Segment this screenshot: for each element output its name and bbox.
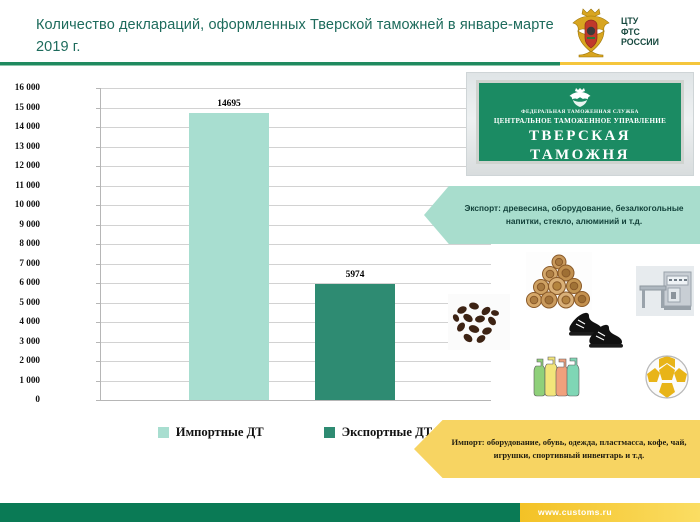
y-axis-tick-mark bbox=[96, 205, 100, 206]
page-title: Количество деклараций, оформленных Тверс… bbox=[36, 14, 556, 58]
y-axis-tick-mark bbox=[96, 303, 100, 304]
chart-gridline bbox=[101, 127, 491, 128]
y-axis-tick-label: 11 000 bbox=[0, 180, 40, 190]
y-axis-tick-label: 4 000 bbox=[0, 316, 40, 326]
bar-value-label: 5974 bbox=[315, 270, 395, 280]
y-axis-tick-label: 5 000 bbox=[0, 297, 40, 307]
chart-gridline bbox=[101, 186, 491, 187]
chart-gridline bbox=[101, 244, 491, 245]
ftc-crest-icon bbox=[567, 87, 593, 107]
slide-root: Количество деклараций, оформленных Тверс… bbox=[0, 0, 700, 525]
y-axis-tick-mark bbox=[96, 361, 100, 362]
y-axis-tick-mark bbox=[96, 108, 100, 109]
chart-bar[interactable] bbox=[315, 284, 395, 400]
y-axis-tick-label: 7 000 bbox=[0, 258, 40, 268]
chart-gridline bbox=[101, 381, 491, 382]
y-axis-tick-label: 9 000 bbox=[0, 219, 40, 229]
emblem-line-2: ФТС bbox=[621, 27, 659, 38]
chart-bar[interactable] bbox=[189, 113, 269, 400]
chart-gridline bbox=[101, 303, 491, 304]
chart-gridline bbox=[101, 283, 491, 284]
y-axis-tick-label: 16 000 bbox=[0, 82, 40, 92]
chart-gridline bbox=[101, 342, 491, 343]
legend-item[interactable]: Импортные ДТ bbox=[158, 425, 264, 440]
bar-value-label: 14695 bbox=[189, 99, 269, 109]
y-axis-tick-label: 0 bbox=[0, 394, 40, 404]
y-axis-tick-label: 13 000 bbox=[0, 141, 40, 151]
customs-office-signboard-photo: ФЕДЕРАЛЬНАЯ ТАМОЖЕННАЯ СЛУЖБА ЦЕНТРАЛЬНО… bbox=[466, 72, 694, 176]
y-axis-tick-mark bbox=[96, 400, 100, 401]
legend-item[interactable]: Экспортные ДТ bbox=[324, 425, 433, 440]
chart-gridline bbox=[101, 147, 491, 148]
footer-bar-green bbox=[0, 503, 520, 522]
declarations-bar-chart: 16 00015 00014 00013 00012 00011 00010 0… bbox=[28, 80, 508, 450]
chart-gridline bbox=[101, 166, 491, 167]
y-axis-tick-mark bbox=[96, 283, 100, 284]
emblem-label: ЦТУ ФТС РОССИИ bbox=[621, 16, 659, 48]
y-axis-tick-mark bbox=[96, 186, 100, 187]
organization-logo: ЦТУ ФТС РОССИИ bbox=[566, 4, 694, 60]
header-divider-gold bbox=[560, 62, 700, 65]
coffee-beans-icon bbox=[448, 294, 510, 350]
y-axis-tick-label: 10 000 bbox=[0, 199, 40, 209]
signboard-line-3a: ТВЕРСКАЯ bbox=[529, 128, 631, 144]
y-axis-tick-mark bbox=[96, 88, 100, 89]
import-callout-text: Импорт: оборудование, обувь, одежда, пла… bbox=[448, 436, 690, 463]
legend-color-swatch bbox=[158, 427, 169, 438]
y-axis-tick-mark bbox=[96, 225, 100, 226]
y-axis-tick-mark bbox=[96, 322, 100, 323]
signboard-line-1: ФЕДЕРАЛЬНАЯ ТАМОЖЕННАЯ СЛУЖБА bbox=[521, 109, 639, 115]
import-goods-callout: Импорт: оборудование, обувь, одежда, пла… bbox=[414, 420, 700, 478]
y-axis-tick-label: 15 000 bbox=[0, 102, 40, 112]
y-axis-tick-mark bbox=[96, 147, 100, 148]
legend-color-swatch bbox=[324, 427, 335, 438]
y-axis-tick-label: 1 000 bbox=[0, 375, 40, 385]
plastic-bottles-icon bbox=[532, 354, 584, 402]
emblem-line-1: ЦТУ bbox=[621, 16, 659, 27]
y-axis-tick-mark bbox=[96, 127, 100, 128]
y-axis-tick-label: 3 000 bbox=[0, 336, 40, 346]
timber-logs-icon bbox=[526, 252, 592, 310]
y-axis-tick-label: 14 000 bbox=[0, 121, 40, 131]
chart-plot-area bbox=[100, 88, 491, 401]
export-goods-callout: Экспорт: древесина, оборудование, безалк… bbox=[424, 186, 700, 244]
russian-double-headed-eagle-emblem bbox=[566, 5, 616, 59]
y-axis-tick-label: 8 000 bbox=[0, 238, 40, 248]
y-axis-tick-mark bbox=[96, 264, 100, 265]
header-divider-green-light bbox=[0, 65, 560, 66]
export-callout-text: Экспорт: древесина, оборудование, безалк… bbox=[458, 202, 690, 228]
industrial-machine-icon bbox=[636, 266, 694, 316]
chart-gridline bbox=[101, 108, 491, 109]
y-axis-tick-mark bbox=[96, 166, 100, 167]
chart-gridline bbox=[101, 264, 491, 265]
soccer-ball-icon bbox=[644, 354, 690, 400]
signboard-line-2: ЦЕНТРАЛЬНОЕ ТАМОЖЕННОЕ УПРАВЛЕНИЕ bbox=[494, 117, 666, 125]
signboard-plate: ФЕДЕРАЛЬНАЯ ТАМОЖЕННАЯ СЛУЖБА ЦЕНТРАЛЬНО… bbox=[476, 80, 684, 164]
footer-website-url[interactable]: www.customs.ru bbox=[538, 507, 612, 517]
legend-label: Экспортные ДТ bbox=[342, 425, 433, 440]
chart-gridline bbox=[101, 322, 491, 323]
product-illustrations bbox=[448, 252, 700, 416]
y-axis-tick-mark bbox=[96, 381, 100, 382]
y-axis-tick-label: 12 000 bbox=[0, 160, 40, 170]
y-axis-tick-label: 6 000 bbox=[0, 277, 40, 287]
legend-label: Импортные ДТ bbox=[176, 425, 264, 440]
y-axis-tick-mark bbox=[96, 342, 100, 343]
y-axis-tick-label: 2 000 bbox=[0, 355, 40, 365]
signboard-line-3b: ТАМОЖНЯ bbox=[530, 147, 630, 163]
chart-gridline bbox=[101, 88, 491, 89]
sneakers-shoes-icon bbox=[566, 310, 628, 348]
y-axis-tick-mark bbox=[96, 244, 100, 245]
slide-header: Количество деклараций, оформленных Тверс… bbox=[0, 0, 700, 63]
emblem-line-3: РОССИИ bbox=[621, 37, 659, 48]
chart-gridline bbox=[101, 361, 491, 362]
